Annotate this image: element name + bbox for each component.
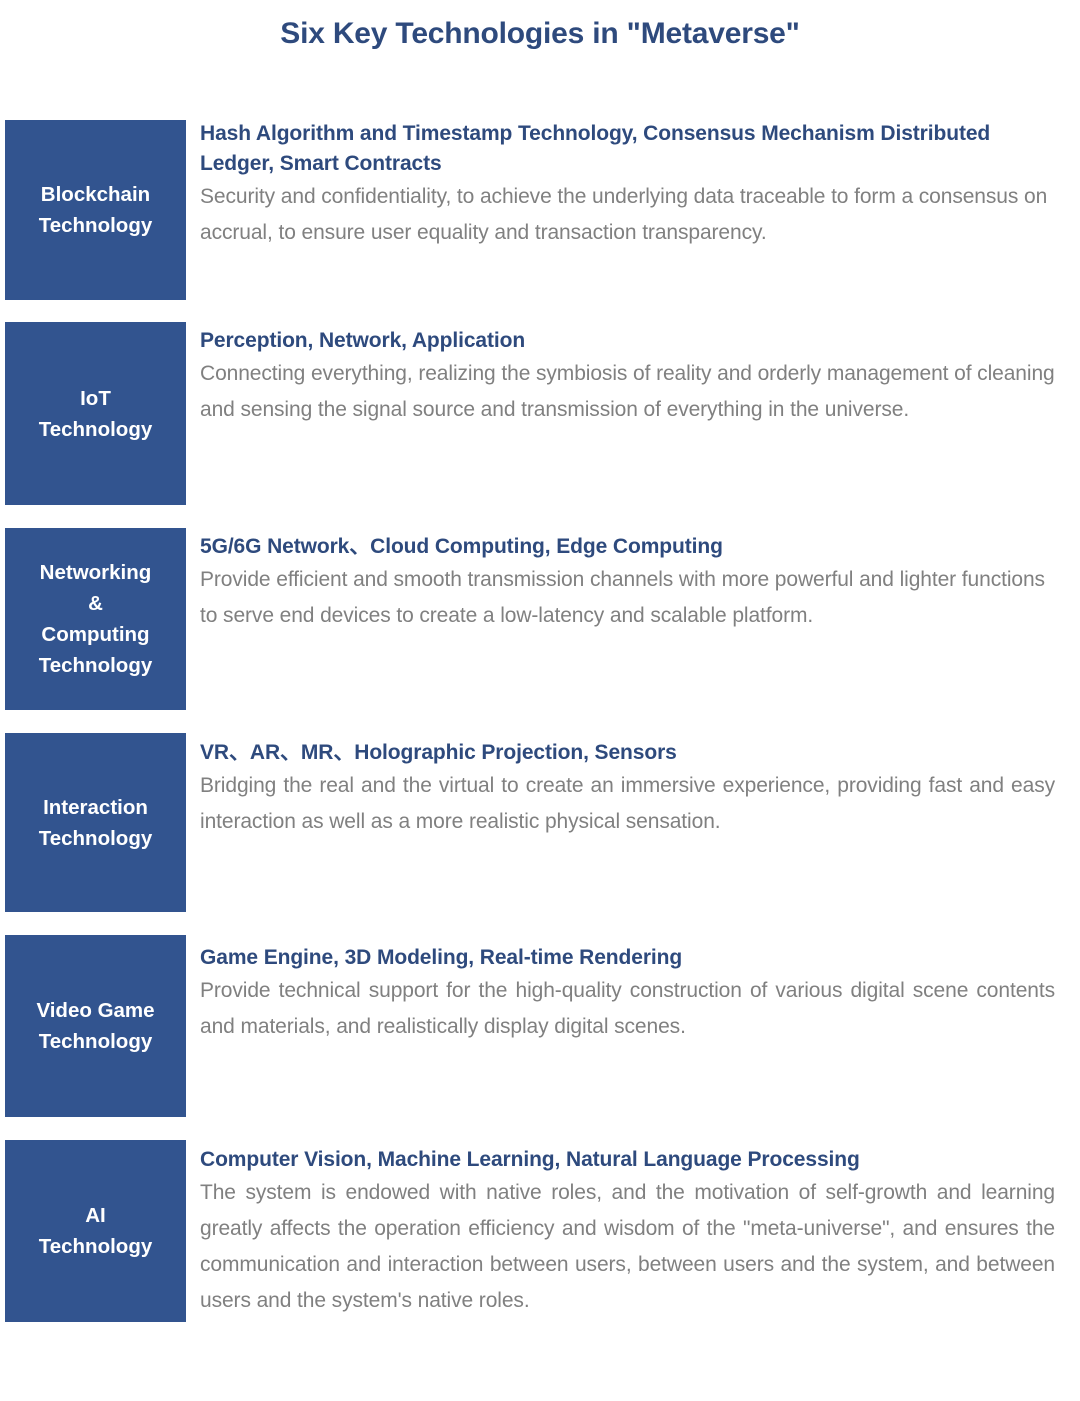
technology-heading: VR、AR、MR、Holographic Projection, Sensors [200,738,1055,768]
technology-label-interaction: InteractionTechnology [5,733,186,912]
technology-body: The system is endowed with native roles,… [200,1175,1055,1319]
technology-body: Connecting everything, realizing the sym… [200,356,1055,428]
technology-content: Game Engine, 3D Modeling, Real-time Rend… [200,943,1055,1045]
technology-label-ai: AITechnology [5,1140,186,1322]
technology-heading: Hash Algorithm and Timestamp Technology,… [200,119,1055,179]
technology-label-blockchain: BlockchainTechnology [5,120,186,300]
technology-label-networking-computing: Networking&ComputingTechnology [5,528,186,710]
technology-content: Hash Algorithm and Timestamp Technology,… [200,119,1055,251]
technology-row: AITechnology Computer Vision, Machine Le… [0,1140,1080,1322]
technology-row: BlockchainTechnology Hash Algorithm and … [0,120,1080,300]
technology-heading: Game Engine, 3D Modeling, Real-time Rend… [200,943,1055,973]
technology-heading: Perception, Network, Application [200,326,1055,356]
technology-heading: Computer Vision, Machine Learning, Natur… [200,1145,1055,1175]
technology-row: IoTTechnology Perception, Network, Appli… [0,322,1080,505]
technology-content: Perception, Network, Application Connect… [200,326,1055,428]
technology-body: Provide technical support for the high-q… [200,973,1055,1045]
technology-body: Bridging the real and the virtual to cre… [200,768,1055,840]
technology-row: Networking&ComputingTechnology 5G/6G Net… [0,528,1080,710]
technology-label-iot: IoTTechnology [5,322,186,505]
technology-body: Security and confidentiality, to achieve… [200,179,1055,251]
technology-row: Video GameTechnology Game Engine, 3D Mod… [0,935,1080,1117]
technology-body: Provide efficient and smooth transmissio… [200,562,1055,634]
technology-row: InteractionTechnology VR、AR、MR、Holograph… [0,733,1080,912]
technology-label-video-game: Video GameTechnology [5,935,186,1117]
technology-content: Computer Vision, Machine Learning, Natur… [200,1145,1055,1319]
technology-content: VR、AR、MR、Holographic Projection, Sensors… [200,738,1055,840]
technology-heading: 5G/6G Network、Cloud Computing, Edge Comp… [200,532,1055,562]
page-title: Six Key Technologies in "Metaverse" [0,14,1080,54]
technology-content: 5G/6G Network、Cloud Computing, Edge Comp… [200,532,1055,634]
infographic-page: Six Key Technologies in "Metaverse" Bloc… [0,0,1080,1401]
